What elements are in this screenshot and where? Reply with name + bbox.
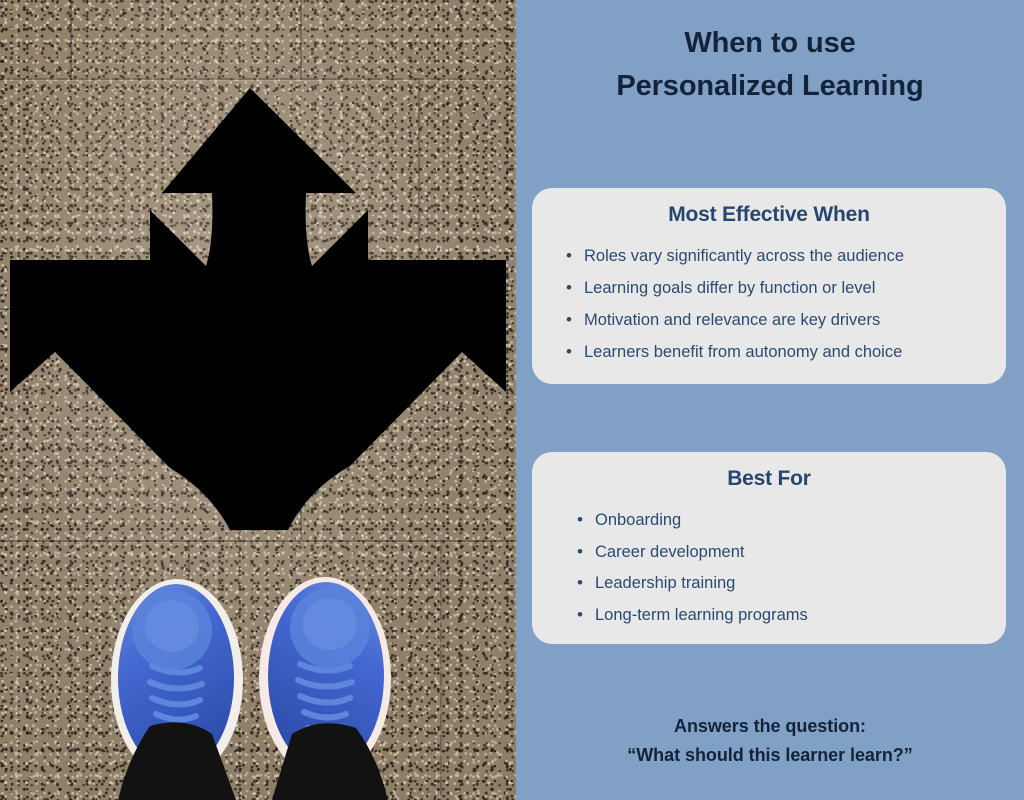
footer-note-line-2: “What should this learner learn?”	[516, 741, 1024, 770]
bullet-list-best-for: Onboarding Career development Leadership…	[532, 491, 1006, 632]
three-way-arrow-icon	[0, 60, 516, 530]
card-title: Best For	[532, 452, 1006, 491]
page-title: When to use Personalized Learning	[516, 22, 1024, 108]
list-item: Roles vary significantly across the audi…	[584, 241, 1006, 273]
list-item: Learners benefit from autonomy and choic…	[584, 337, 1006, 369]
footer-note-line-1: Answers the question:	[516, 712, 1024, 741]
infographic-root: When to use Personalized Learning Most E…	[0, 0, 1024, 800]
legs-and-shoes	[0, 490, 516, 800]
card-most-effective-when: Most Effective When Roles vary significa…	[532, 188, 1006, 384]
photo-panel	[0, 0, 516, 800]
list-item: Motivation and relevance are key drivers	[584, 305, 1006, 337]
bullet-list-most-effective-when: Roles vary significantly across the audi…	[532, 227, 1006, 368]
list-item: Leadership training	[595, 568, 1006, 600]
content-panel: When to use Personalized Learning Most E…	[516, 0, 1024, 800]
footer-note: Answers the question: “What should this …	[516, 712, 1024, 771]
list-item: Long-term learning programs	[595, 600, 1006, 632]
card-best-for: Best For Onboarding Career development L…	[532, 452, 1006, 644]
page-title-line-2: Personalized Learning	[516, 65, 1024, 108]
list-item: Onboarding	[595, 505, 1006, 537]
page-title-line-1: When to use	[516, 22, 1024, 65]
list-item: Career development	[595, 537, 1006, 569]
card-title: Most Effective When	[532, 188, 1006, 227]
list-item: Learning goals differ by function or lev…	[584, 273, 1006, 305]
